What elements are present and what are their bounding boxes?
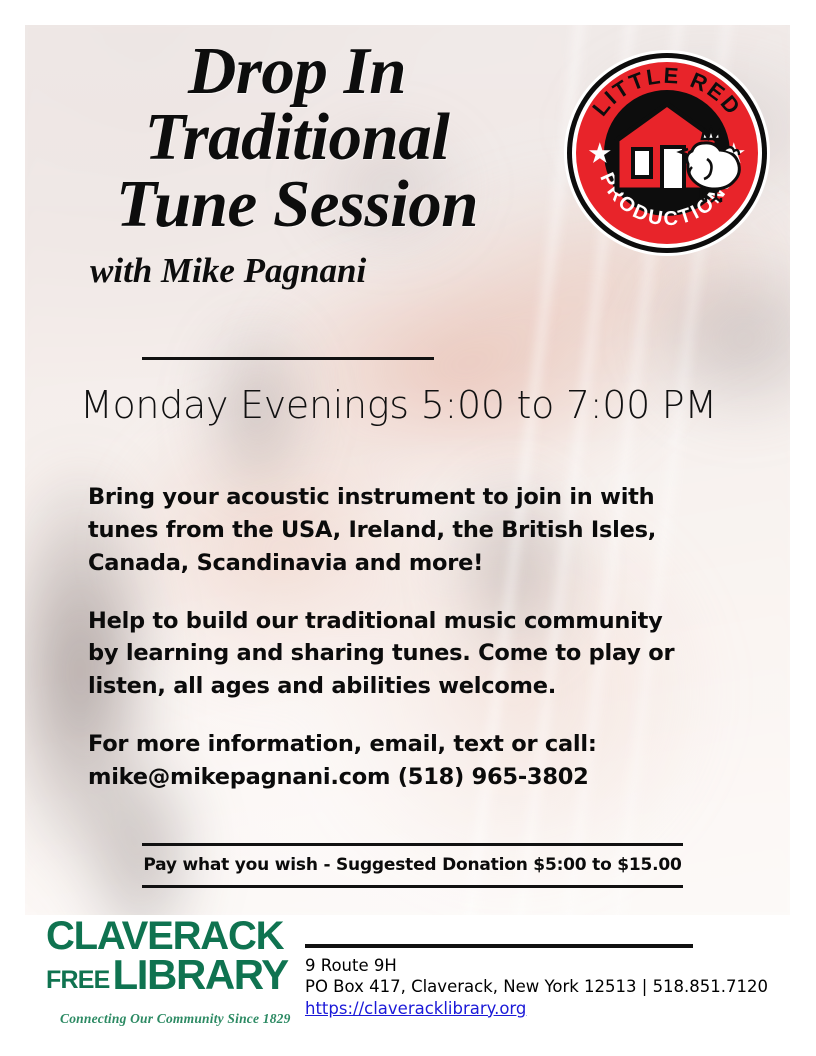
body-copy: Bring your acoustic instrument to join i… — [88, 481, 718, 794]
bring-paragraph: Bring your acoustic instrument to join i… — [88, 481, 718, 580]
paragraph-line: Help to build our traditional music comm… — [88, 605, 718, 638]
library-tagline: Connecting Our Community Since 1829 — [60, 1011, 298, 1027]
claverack-free-library-logo: CLAVERACK FREE LIBRARY Connecting Our Co… — [46, 918, 298, 1027]
title-block: Drop In Traditional Tune Session with Mi… — [52, 38, 542, 288]
library-name-free: FREE — [46, 969, 109, 992]
divider-above-address — [305, 944, 693, 948]
library-name-row: FREE LIBRARY — [46, 956, 298, 995]
paragraph-line: listen, all ages and abilities welcome. — [88, 670, 718, 703]
address-line-city-phone: PO Box 417, Claverack, New York 12513 | … — [305, 976, 775, 997]
page-title: Drop In Traditional Tune Session — [52, 38, 542, 237]
donation-note: Pay what you wish - Suggested Donation $… — [142, 855, 683, 875]
paragraph-line: For more information, email, text or cal… — [88, 728, 718, 761]
little-red-productions-logo: LITTLE RED PRODUCTIONS — [561, 47, 773, 259]
title-line-3: Tune Session — [52, 171, 542, 237]
address-line-street: 9 Route 9H — [305, 955, 775, 976]
paragraph-line: tunes from the USA, Ireland, the British… — [88, 514, 718, 547]
divider-above-donation — [142, 843, 683, 846]
poster-page: Drop In Traditional Tune Session with Mi… — [0, 0, 816, 1056]
contact-email-phone: mike@mikepagnani.com (518) 965-3802 — [88, 761, 718, 794]
library-name-claverack: CLAVERACK — [46, 918, 298, 955]
library-contact-block: 9 Route 9H PO Box 417, Claverack, New Yo… — [305, 955, 775, 1019]
divider-under-subtitle — [142, 357, 434, 360]
title-line-2: Traditional — [52, 104, 542, 170]
paragraph-line: by learning and sharing tunes. Come to p… — [88, 637, 718, 670]
community-paragraph: Help to build our traditional music comm… — [88, 605, 718, 704]
library-website-link[interactable]: https://claveracklibrary.org — [305, 998, 526, 1019]
page-subtitle: with Mike Pagnani — [52, 253, 542, 288]
contact-paragraph: For more information, email, text or cal… — [88, 728, 718, 794]
divider-below-donation — [142, 885, 683, 888]
paragraph-line: Bring your acoustic instrument to join i… — [88, 481, 718, 514]
event-schedule: Monday Evenings 5:00 to 7:00 PM — [80, 385, 740, 427]
title-line-1: Drop In — [52, 38, 542, 104]
library-name-library: LIBRARY — [112, 956, 287, 995]
paragraph-line: Canada, Scandinavia and more! — [88, 547, 718, 580]
